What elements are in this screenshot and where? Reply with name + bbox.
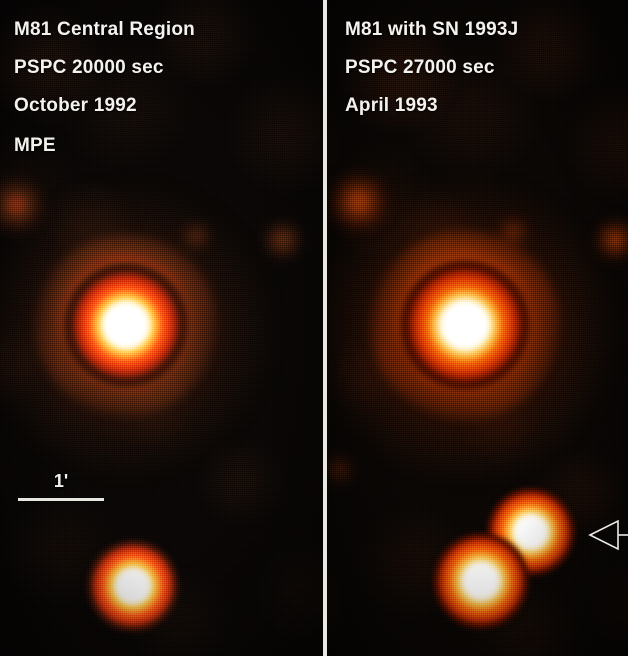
caption-line-object-left: M81 Central Region — [14, 19, 195, 41]
image-panel-left: M81 Central Region PSPC 20000 sec Octobe… — [0, 0, 323, 656]
sn-1993j-arrow-icon — [588, 518, 628, 552]
panel-divider — [323, 0, 327, 656]
scale-bar-line — [18, 498, 104, 501]
figure-root: M81 Central Region PSPC 20000 sec Octobe… — [0, 0, 628, 656]
caption-line-object-right: M81 with SN 1993J — [345, 19, 518, 41]
caption-line-epoch-left: October 1992 — [14, 95, 137, 117]
scale-bar: 1' — [18, 472, 104, 501]
scale-bar-label: 1' — [18, 472, 104, 490]
image-panel-right: M81 with SN 1993J PSPC 27000 sec April 1… — [327, 0, 628, 656]
caption-line-credit-left: MPE — [14, 135, 56, 157]
caption-line-epoch-right: April 1993 — [345, 95, 438, 117]
caption-line-exposure-left: PSPC 20000 sec — [14, 57, 164, 79]
caption-line-exposure-right: PSPC 27000 sec — [345, 57, 495, 79]
